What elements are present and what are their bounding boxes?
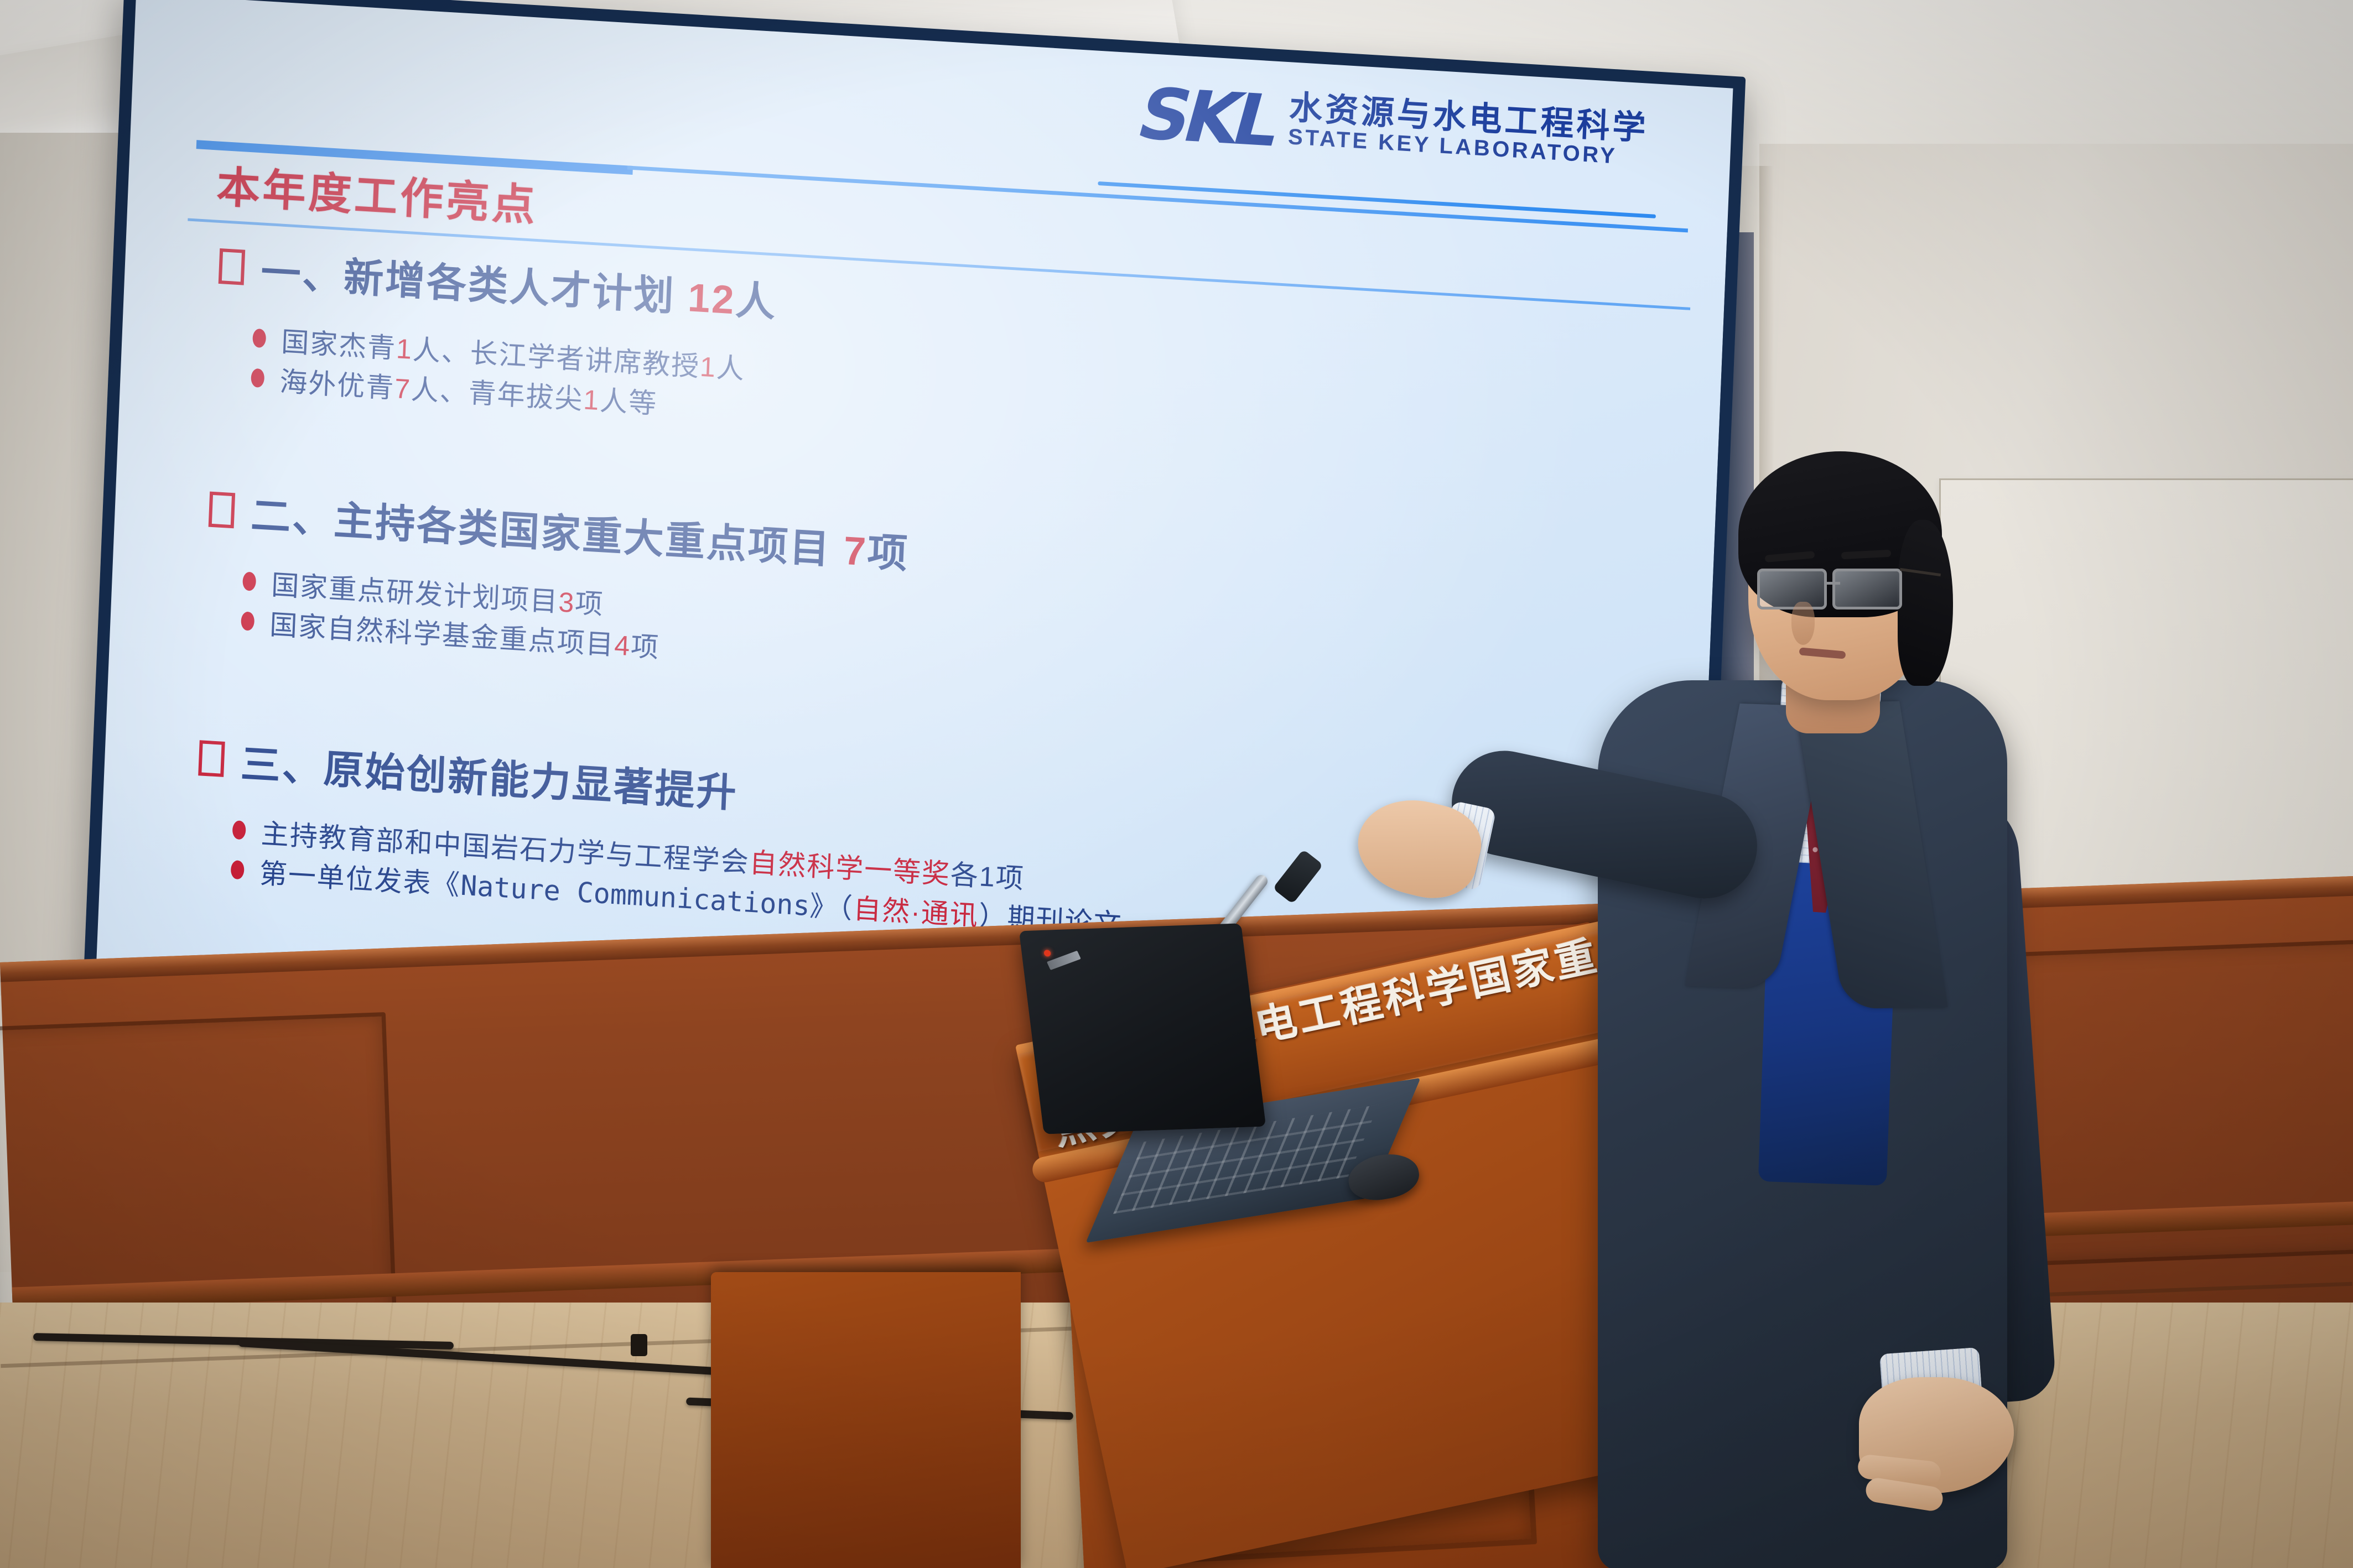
laptop-logo-dot-icon	[1043, 950, 1051, 956]
bullet-suffix: 人等	[599, 385, 658, 419]
bullet-number: 7	[394, 373, 412, 405]
section-heading: 二、主持各类国家重大重点项目 7项	[208, 480, 910, 580]
eyeglasses-lens-left-icon	[1757, 569, 1827, 610]
slide-section-3: 三、原始创新能力显著提升 主持教育部和中国岩石力学与工程学会自然科学一等奖各1项…	[194, 728, 1128, 942]
square-bullet-icon	[219, 248, 246, 285]
round-bullet-icon	[251, 368, 264, 388]
bullet-number: 1	[396, 333, 413, 365]
section-index: 二、	[250, 493, 335, 543]
bullet-number: 1	[699, 351, 717, 383]
cable-clip	[631, 1334, 647, 1356]
square-bullet-icon	[209, 491, 236, 528]
slide-section-2: 二、主持各类国家重大重点项目 7项 国家重点研发计划项目3项 国家自然科学基金重…	[204, 480, 910, 680]
presentation-scene: SKL 水资源与水电工程科学 STATE KEY LABORATORY 本年度工…	[0, 0, 2353, 1568]
eyeglasses-bridge-icon	[1827, 582, 1840, 585]
bullet-suffix: 项	[574, 587, 604, 620]
section-index: 三、	[240, 742, 324, 791]
bullet-number: 3	[558, 586, 575, 618]
presenter	[1582, 442, 2136, 1568]
section-heading-text: 新增各类人才计划	[343, 255, 676, 319]
slide-section-1: 一、新增各类人才计划 12人 国家杰青1人、长江学者讲席教授1人 海外优青7人、…	[214, 237, 778, 429]
lab-logo: SKL 水资源与水电工程科学 STATE KEY LABORATORY	[1139, 81, 1649, 175]
laptop-logo-icon	[1047, 951, 1081, 970]
bullet-highlight: 自然·通讯	[853, 893, 979, 931]
skl-logo-mark: SKL	[1131, 82, 1283, 153]
bullet-suffix: 各1项	[950, 859, 1025, 894]
presenter-nose	[1791, 602, 1815, 645]
title-rule-thin	[627, 165, 1688, 232]
bullet-suffix: 项	[630, 631, 660, 663]
round-bullet-icon	[231, 860, 245, 879]
bullet-number: 1	[583, 384, 600, 416]
bullet-mid: 》（	[809, 890, 854, 924]
section-title: 三、原始创新能力显著提升	[240, 731, 739, 819]
laptop-lid[interactable]	[1019, 923, 1266, 1134]
section-index: 一、	[260, 250, 345, 299]
round-bullet-icon	[241, 611, 254, 631]
lab-logo-text: 水资源与水电工程科学 STATE KEY LABORATORY	[1287, 90, 1649, 175]
section-heading-text: 主持各类国家重大重点项目	[333, 498, 832, 572]
section-title: 二、主持各类国家重大重点项目 7项	[250, 482, 911, 580]
section-number: 7	[843, 529, 868, 574]
presenter-hair-side	[1898, 520, 1953, 686]
section-heading-text: 原始创新能力显著提升	[323, 747, 739, 816]
bullet-mid: 人、青年拔尖	[411, 374, 584, 415]
section-title: 一、新增各类人才计划 12人	[260, 239, 778, 328]
bullet-prefix: 第一单位发表《	[259, 858, 461, 901]
bullet-prefix: 国家杰青	[281, 326, 397, 364]
podium-front-edge	[711, 1272, 1021, 1568]
section-number: 12	[687, 275, 736, 322]
bullet-number: 4	[614, 629, 631, 661]
round-bullet-icon	[232, 820, 246, 840]
square-bullet-icon	[198, 740, 225, 777]
section-unit: 项	[866, 530, 910, 576]
bullet-prefix: 海外优青	[279, 366, 395, 404]
bullet-suffix: 人	[716, 352, 746, 385]
section-unit: 人	[735, 278, 778, 325]
round-bullet-icon	[242, 571, 256, 591]
eyeglasses-lens-right-icon	[1832, 569, 1902, 610]
round-bullet-icon	[252, 329, 266, 348]
